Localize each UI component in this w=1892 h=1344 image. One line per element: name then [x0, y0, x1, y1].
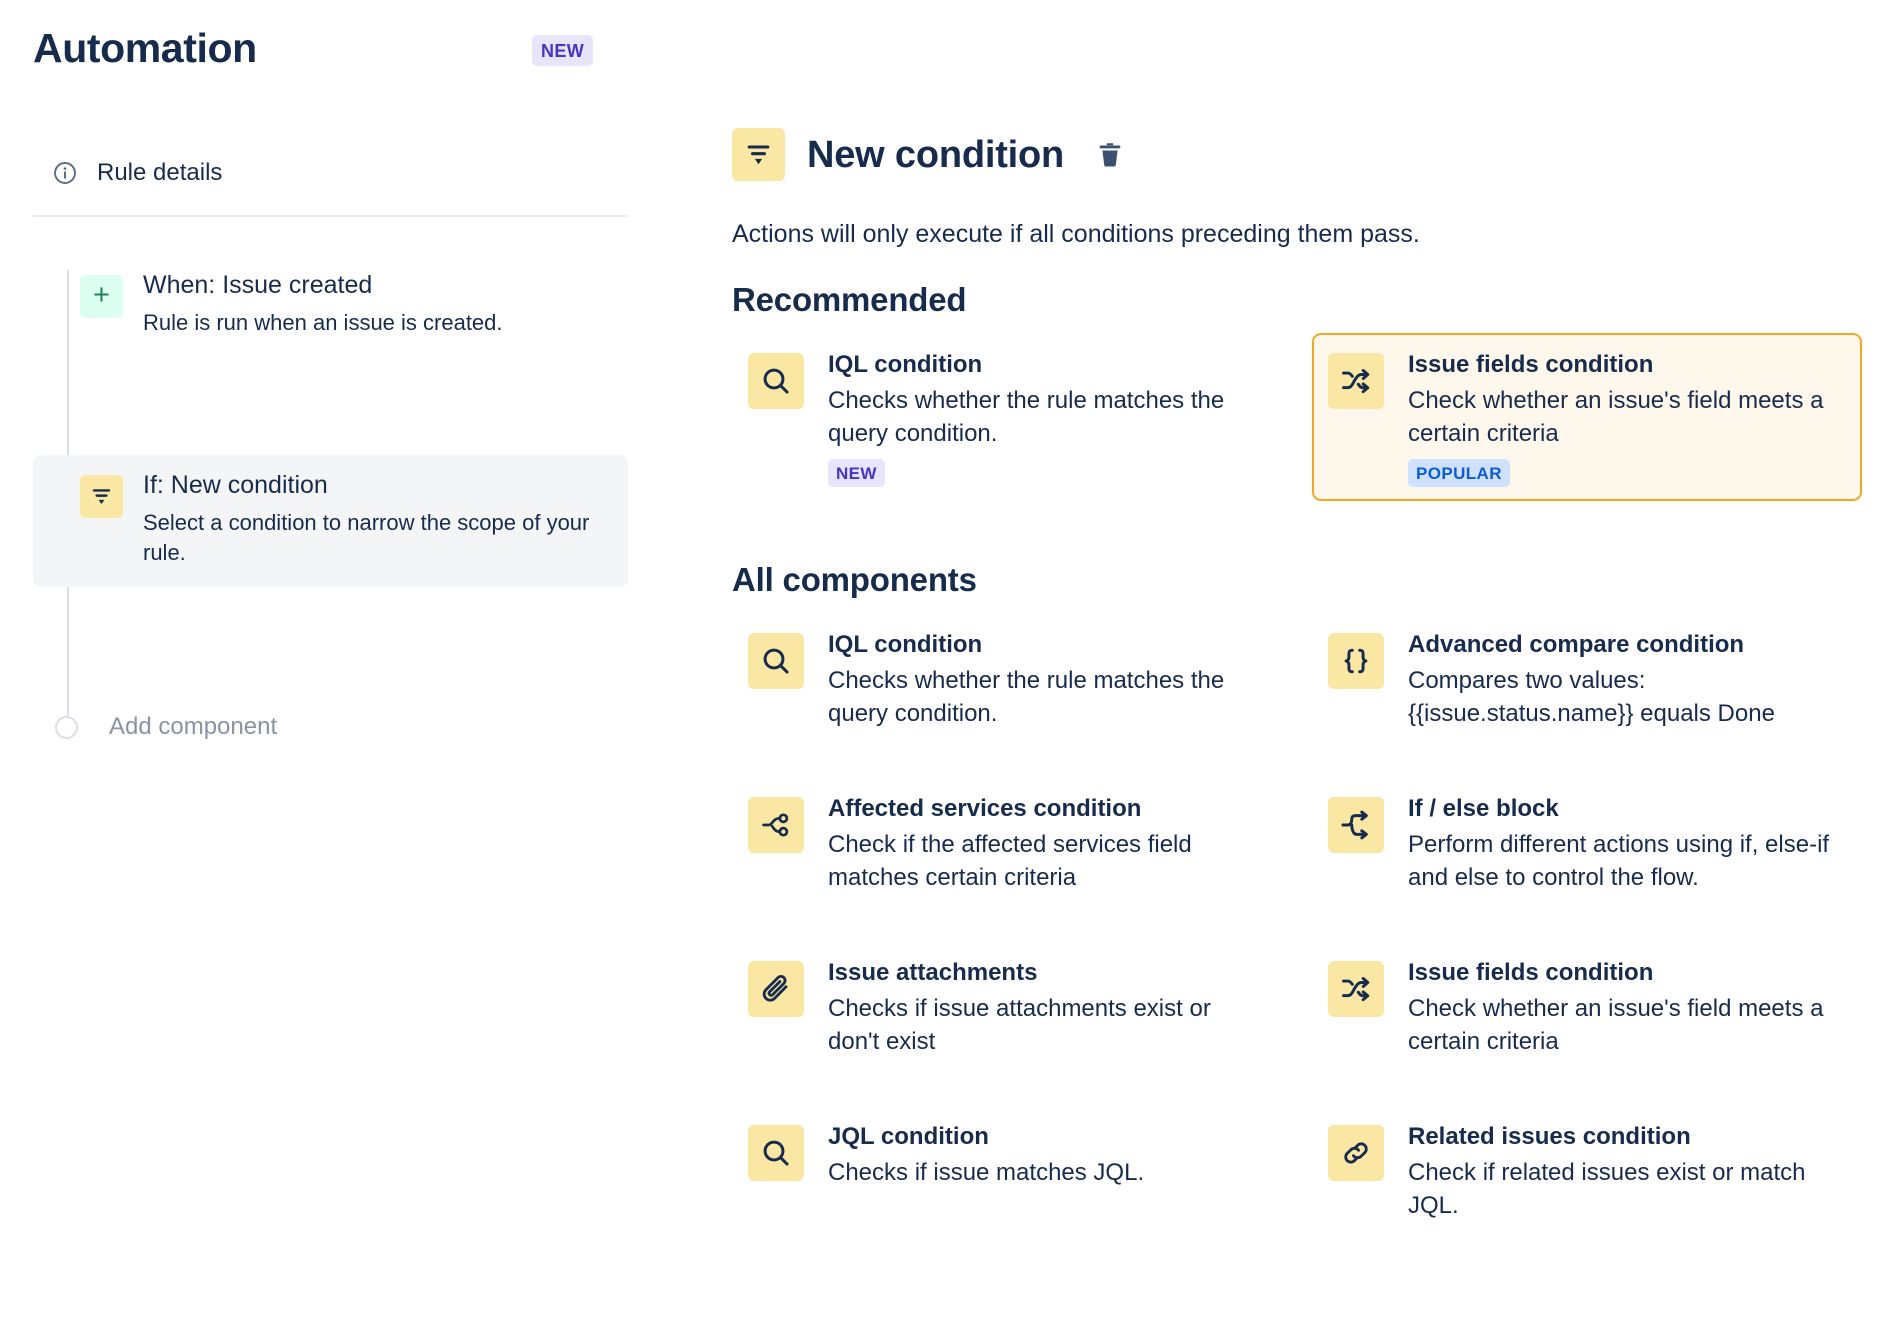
component-desc: Perform different actions using if, else…: [1408, 828, 1846, 894]
component-title: Issue attachments: [828, 959, 1266, 988]
component-card-issue-attachments[interactable]: Issue attachments Checks if issue attach…: [732, 941, 1282, 1105]
rule-node-trigger[interactable]: + When: Issue created Rule is run when a…: [33, 255, 628, 358]
component-title: Issue fields condition: [1408, 351, 1846, 380]
component-title: IQL condition: [828, 351, 1266, 380]
sidebar-divider: [33, 215, 627, 217]
rule-node-title: When: Issue created: [143, 271, 608, 299]
component-card-if-else-block[interactable]: If / else block Perform different action…: [1312, 777, 1862, 941]
shuffle-icon: [1328, 961, 1384, 1017]
link-icon: [1328, 1125, 1384, 1181]
panel-header: New condition: [732, 128, 1126, 181]
if-else-icon: [1328, 797, 1384, 853]
status-badge: NEW: [828, 459, 885, 487]
page-title: Automation: [33, 28, 257, 69]
component-title: Related issues condition: [1408, 1123, 1846, 1152]
add-component-label: Add component: [96, 715, 277, 739]
component-card-advanced-compare-condition[interactable]: Advanced compare condition Compares two …: [1312, 613, 1862, 777]
component-title: IQL condition: [828, 631, 1266, 660]
rule-node-desc: Rule is run when an issue is created.: [143, 308, 608, 338]
panel-title: New condition: [807, 136, 1064, 174]
component-desc: Check if related issues exist or match J…: [1408, 1156, 1846, 1222]
rule-node-desc: Select a condition to narrow the scope o…: [143, 508, 608, 567]
search-icon: [748, 353, 804, 409]
braces-icon: [1328, 633, 1384, 689]
rule-node-title: If: New condition: [143, 471, 608, 499]
automation-sidebar: Automation NEW Rule details + When: Issu…: [0, 0, 660, 1344]
component-desc: Check if the affected services field mat…: [828, 828, 1266, 894]
component-card-iql-condition[interactable]: IQL condition Checks whether the rule ma…: [732, 613, 1282, 777]
component-title: If / else block: [1408, 795, 1846, 824]
rule-details-label: Rule details: [97, 161, 222, 185]
sidebar-item-rule-details[interactable]: Rule details: [52, 160, 222, 186]
info-icon: [52, 160, 78, 186]
component-title: Advanced compare condition: [1408, 631, 1846, 660]
rule-node-condition[interactable]: If: New condition Select a condition to …: [33, 455, 628, 587]
recommended-grid: IQL condition Checks whether the rule ma…: [732, 333, 1862, 501]
component-desc: Compares two values: {{issue.status.name…: [1408, 664, 1846, 730]
component-card-affected-services-condition[interactable]: Affected services condition Check if the…: [732, 777, 1282, 941]
shuffle-icon: [1328, 353, 1384, 409]
component-desc: Checks if issue attachments exist or don…: [828, 992, 1266, 1058]
search-icon: [748, 1125, 804, 1181]
add-component-circle-icon: [55, 716, 78, 739]
component-card-jql-condition[interactable]: JQL condition Checks if issue matches JQ…: [732, 1105, 1282, 1236]
component-desc: Check whether an issue's field meets a c…: [1408, 384, 1846, 450]
condition-picker-panel: New condition Actions will only execute …: [660, 0, 1892, 1344]
page-title-row: Automation: [33, 22, 593, 74]
component-card-issue-fields-condition[interactable]: Issue fields condition Check whether an …: [1312, 333, 1862, 501]
filter-icon: [80, 475, 123, 518]
search-icon: [748, 633, 804, 689]
component-desc: Checks whether the rule matches the quer…: [828, 384, 1266, 450]
plus-icon: +: [80, 275, 123, 318]
filter-icon: [732, 128, 785, 181]
section-heading-all-components: All components: [732, 563, 977, 596]
affected-services-icon: [748, 797, 804, 853]
component-desc: Checks whether the rule matches the quer…: [828, 664, 1266, 730]
component-card-issue-fields-condition[interactable]: Issue fields condition Check whether an …: [1312, 941, 1862, 1105]
component-card-iql-condition[interactable]: IQL condition Checks whether the rule ma…: [732, 333, 1282, 501]
component-desc: Checks if issue matches JQL.: [828, 1156, 1266, 1189]
component-title: Issue fields condition: [1408, 959, 1846, 988]
component-card-related-issues-condition[interactable]: Related issues condition Check if relate…: [1312, 1105, 1862, 1236]
section-heading-recommended: Recommended: [732, 283, 966, 316]
component-title: JQL condition: [828, 1123, 1266, 1152]
status-badge: POPULAR: [1408, 459, 1510, 487]
page-title-new-badge: NEW: [532, 35, 593, 66]
component-title: Affected services condition: [828, 795, 1266, 824]
add-component-button[interactable]: Add component: [55, 715, 277, 739]
paperclip-icon: [748, 961, 804, 1017]
trash-icon[interactable]: [1094, 139, 1126, 171]
component-desc: Check whether an issue's field meets a c…: [1408, 992, 1846, 1058]
all-components-grid: IQL condition Checks whether the rule ma…: [732, 613, 1862, 1236]
panel-subtitle: Actions will only execute if all conditi…: [732, 222, 1420, 247]
